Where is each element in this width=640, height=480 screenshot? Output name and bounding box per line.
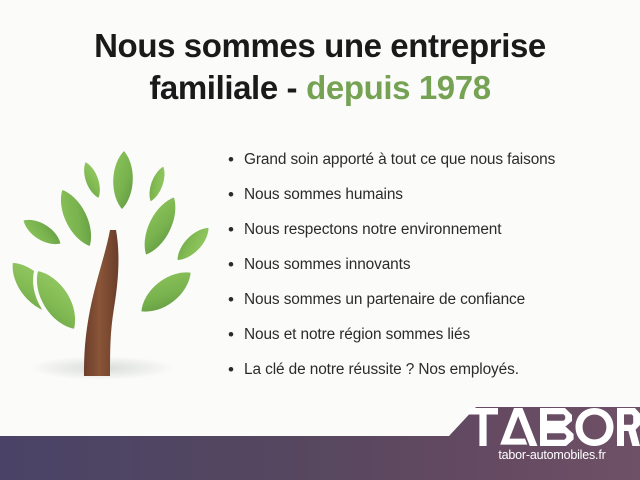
slide-canvas: Nous sommes une entreprise familiale -de… xyxy=(0,0,640,480)
footer-brand-bar xyxy=(0,398,640,480)
list-item: • Nous respectons notre environnement xyxy=(228,218,628,253)
page-title: Nous sommes une entreprise familiale -de… xyxy=(0,26,640,109)
bullet-dot-icon: • xyxy=(228,323,244,347)
bullet-dot-icon: • xyxy=(228,288,244,312)
tree-leaf xyxy=(170,221,216,268)
list-item: • Grand soin apporté à tout ce que nous … xyxy=(228,148,628,183)
list-item: • Nous et notre région sommes liés xyxy=(228,323,628,358)
bullet-dot-icon: • xyxy=(228,218,244,242)
tree-leaf xyxy=(78,158,105,201)
list-item: • La clé de notre réussite ? Nos employé… xyxy=(228,358,628,393)
title-line-1: Nous sommes une entreprise xyxy=(0,26,640,66)
bullet-dot-icon: • xyxy=(228,148,244,172)
list-item-label: Grand soin apporté à tout ce que nous fa… xyxy=(244,148,628,172)
list-item: • Nous sommes un partenaire de confiance xyxy=(228,288,628,323)
title-line-2-prefix: familiale - xyxy=(149,69,297,106)
title-accent-since-1978: depuis 1978 xyxy=(306,69,491,106)
tree-leaf xyxy=(17,212,66,252)
bullet-dot-icon: • xyxy=(228,253,244,277)
list-item-label: Nous et notre région sommes liés xyxy=(244,323,628,347)
bullet-dot-icon: • xyxy=(228,358,244,382)
footer-bar-shape xyxy=(0,407,640,480)
list-item-label: Nous sommes humains xyxy=(244,183,628,207)
tree-trunk xyxy=(84,230,118,376)
tree-icon xyxy=(10,140,220,390)
list-item-label: Nous sommes innovants xyxy=(244,253,628,277)
value-proposition-list: • Grand soin apporté à tout ce que nous … xyxy=(228,148,628,393)
list-item: • Nous sommes humains xyxy=(228,183,628,218)
title-line-2: familiale -depuis 1978 xyxy=(0,68,640,108)
tree-leaf xyxy=(131,260,201,323)
tree-leaf xyxy=(111,148,136,211)
list-item-label: Nous respectons notre environnement xyxy=(244,218,628,242)
list-item-label: La clé de notre réussite ? Nos employés. xyxy=(244,358,628,382)
list-item: • Nous sommes innovants xyxy=(228,253,628,288)
list-item-label: Nous sommes un partenaire de confiance xyxy=(244,288,628,312)
bullet-dot-icon: • xyxy=(228,183,244,207)
